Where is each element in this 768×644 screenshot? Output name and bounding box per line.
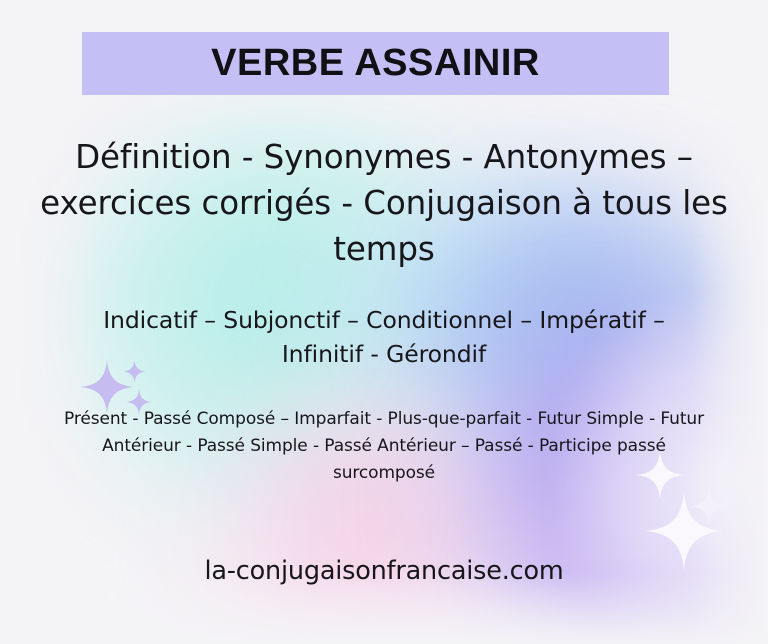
poster-content: Définition - Synonymes - Antonymes – exe… — [0, 0, 768, 644]
tenses-list-text: Présent - Passé Composé – Imparfait - Pl… — [64, 406, 704, 487]
poster-canvas: VERBE ASSAINIR Définition - Synonymes - … — [0, 0, 768, 644]
headline-text: Définition - Synonymes - Antonymes – exe… — [34, 134, 734, 272]
website-url: la-conjugaisonfrancaise.com — [64, 556, 704, 586]
modes-list-text: Indicatif – Subjonctif – Conditionnel – … — [64, 303, 704, 371]
